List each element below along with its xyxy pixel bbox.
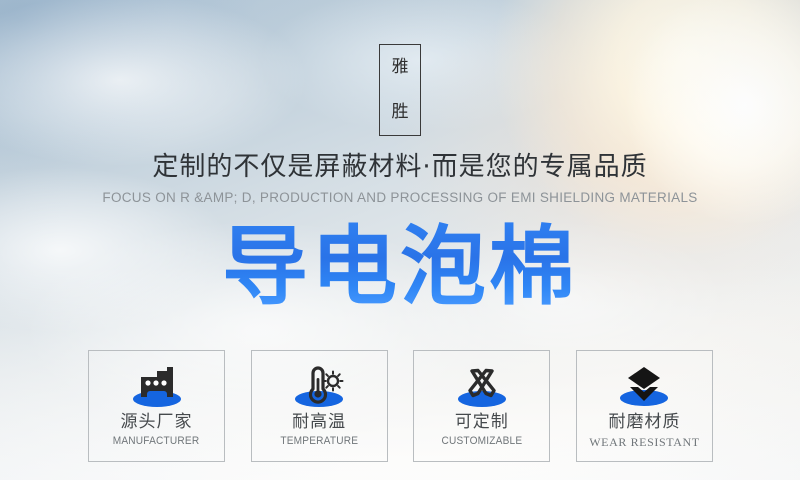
feature-label-en: TEMPERATURE [280,435,358,447]
feature-label-cn: 可定制 [455,413,509,432]
page-title: 导电泡棉 [0,222,800,312]
feature-label-en: MANUFACTURER [113,435,200,447]
product-banner: 雅 胜 定制的不仅是屏蔽材料·而是您的专属品质 FOCUS ON R &AMP;… [0,0,800,480]
layered-diamond-icon [614,361,674,409]
crossed-pencils-icon [452,361,512,409]
feature-card-wear-resistant[interactable]: 耐磨材质 WEAR RESISTANT [576,350,713,462]
feature-card-temperature[interactable]: 耐高温 TEMPERATURE [251,350,388,462]
factory-icon [127,361,187,409]
feature-card-manufacturer[interactable]: 源头厂家 MANUFACTURER [88,350,225,462]
feature-label-en: CUSTOMIZABLE [441,435,522,447]
hero-subtitle: FOCUS ON R &AMP; D, PRODUCTION AND PROCE… [0,190,800,205]
thermometer-sun-icon [289,361,349,409]
feature-label-cn: 耐磨材质 [608,413,680,432]
logo-char-2: 胜 [392,104,409,121]
feature-list: 源头厂家 MANUFACTURER [88,350,713,462]
brand-logo: 雅 胜 [379,44,421,136]
hero-tagline: 定制的不仅是屏蔽材料·而是您的专属品质 [0,146,800,183]
feature-card-customizable[interactable]: 可定制 CUSTOMIZABLE [413,350,550,462]
feature-label-cn: 源头厂家 [121,413,193,432]
feature-label-en: WEAR RESISTANT [589,435,699,450]
feature-label-cn: 耐高温 [292,413,346,432]
logo-char-1: 雅 [392,59,409,76]
